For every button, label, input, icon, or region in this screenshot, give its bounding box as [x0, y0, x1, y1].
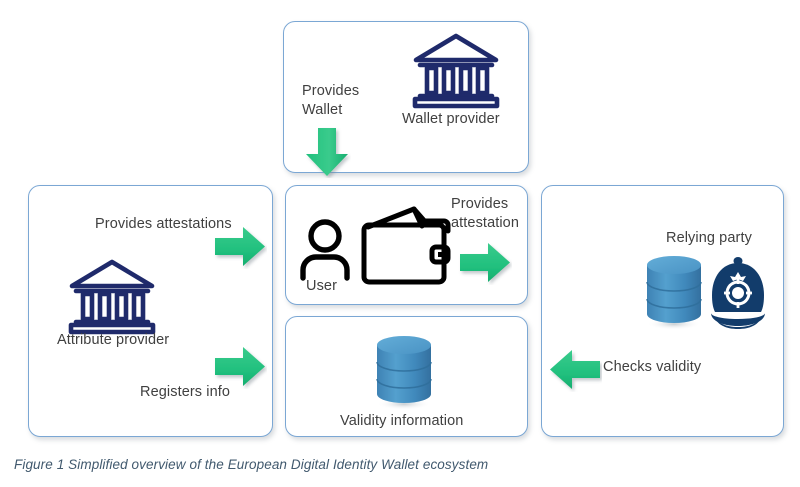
- database-icon: [640, 252, 708, 330]
- node-label-wallet-provider: Wallet provider: [402, 110, 500, 129]
- wallet-icon: [358, 205, 456, 287]
- database-icon: [370, 332, 438, 410]
- arrow-left-icon: [546, 348, 602, 392]
- bank-icon: [410, 31, 502, 109]
- node-label-relying-party: Relying party: [666, 229, 752, 248]
- arrow-right-icon: [458, 241, 512, 285]
- figure-caption: Figure 1 Simplified overview of the Euro…: [14, 457, 488, 472]
- edge-label-provides-wallet: Provides Wallet: [302, 82, 359, 120]
- user-icon: [298, 218, 352, 282]
- wallet-clasp-icon: [438, 252, 443, 257]
- node-label-attribute-provider: Attribute provider: [57, 331, 169, 350]
- edge-label-registers-info: Registers info: [140, 383, 230, 402]
- edge-label-provides-attestation: Provides attestation: [451, 195, 519, 233]
- node-label-validity-information: Validity information: [340, 412, 463, 431]
- police-helmet-icon: [703, 253, 773, 329]
- edge-label-checks-validity: Checks validity: [603, 358, 701, 377]
- bank-icon: [66, 257, 158, 335]
- diagram-canvas: Provides Wallet Wallet provider Provides…: [0, 0, 800, 487]
- arrow-down-icon: [303, 126, 351, 178]
- node-label-user: User: [306, 277, 337, 296]
- edge-label-provides-attestations: Provides attestations: [95, 215, 232, 234]
